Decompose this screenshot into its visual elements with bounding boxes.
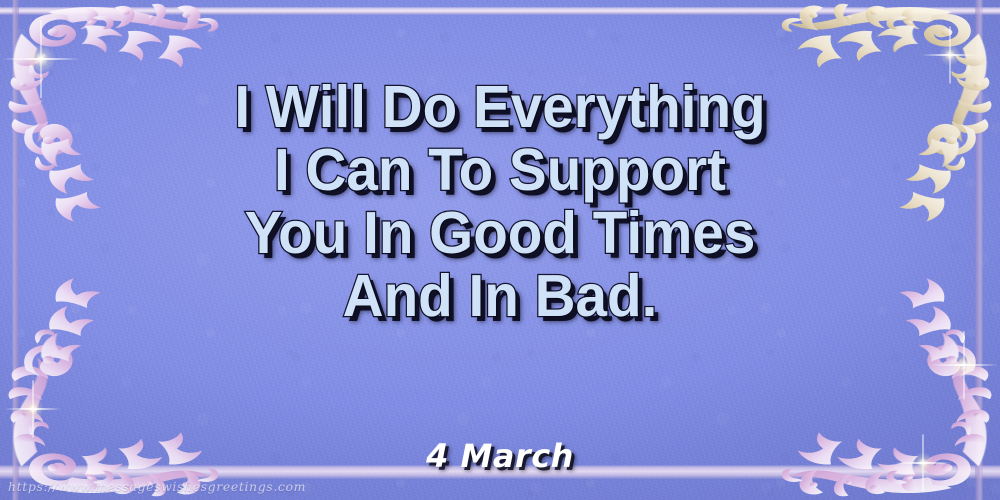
message-line-4: And In Bad. [20, 267, 980, 326]
message-headline: I Will Do Everything I Can To Support Yo… [0, 78, 1000, 330]
message-line-1: I Will Do Everything [20, 78, 980, 137]
watermark-url: https://www.messageswishesgreetings.com [8, 479, 306, 494]
frame-rule-top [0, 7, 1000, 15]
message-line-3: You In Good Times [20, 204, 980, 263]
message-line-2: I Can To Support [20, 141, 980, 200]
date-caption: 4 March [0, 437, 1000, 475]
greeting-card: I Will Do Everything I Can To Support Yo… [0, 0, 1000, 500]
